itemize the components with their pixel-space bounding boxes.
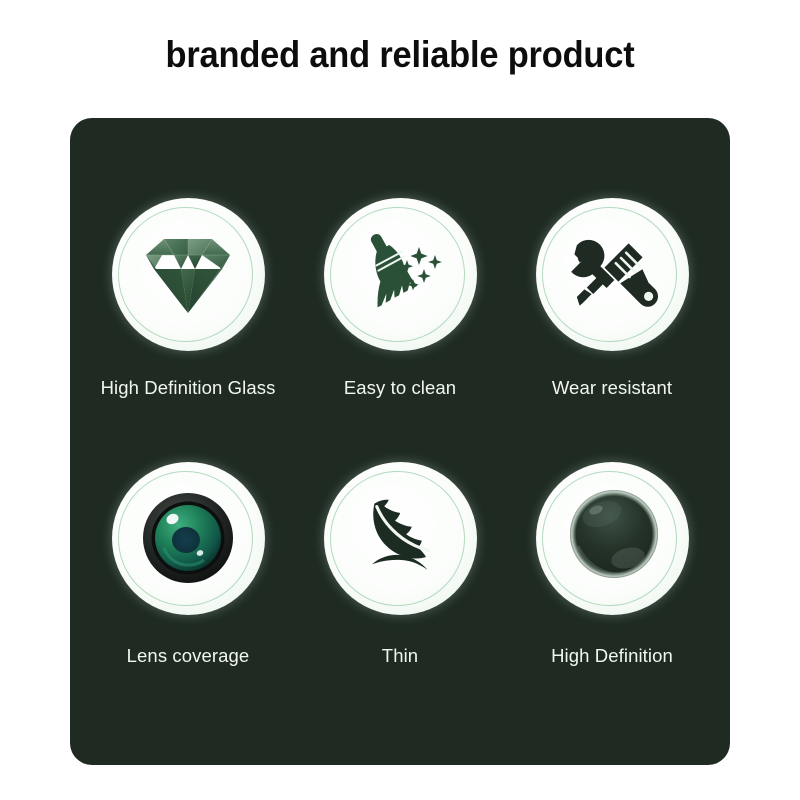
feature-item-thin[interactable]: Thin: [294, 432, 506, 732]
feature-badge: [536, 198, 689, 351]
product-feature-infographic: branded and reliable product: [0, 0, 800, 800]
broom-sparkle-icon: [350, 225, 450, 325]
feature-item-lens-coverage[interactable]: Lens coverage: [82, 432, 294, 732]
feature-badge: [324, 198, 477, 351]
feature-label: Wear resistant: [552, 377, 672, 399]
page-title: branded and reliable product: [28, 34, 772, 76]
camera-lens-icon: [138, 488, 238, 588]
feature-panel: High Definition Glass: [70, 118, 730, 765]
wrench-screwdriver-icon: [562, 225, 662, 325]
feature-item-wear-resistant[interactable]: Wear resistant: [506, 132, 718, 432]
feature-grid: High Definition Glass: [70, 118, 730, 765]
feature-item-high-definition-glass[interactable]: High Definition Glass: [82, 132, 294, 432]
feature-badge: [112, 462, 265, 615]
feature-badge: [324, 462, 477, 615]
feature-badge: [536, 462, 689, 615]
glossy-sphere-icon: [562, 488, 662, 588]
feature-label: Lens coverage: [127, 645, 250, 667]
feather-icon: [350, 488, 450, 588]
feature-item-high-definition[interactable]: High Definition: [506, 432, 718, 732]
feature-label: Easy to clean: [344, 377, 456, 399]
feature-badge: [112, 198, 265, 351]
diamond-icon: [138, 225, 238, 325]
feature-label: High Definition: [551, 645, 673, 667]
feature-item-easy-to-clean[interactable]: Easy to clean: [294, 132, 506, 432]
feature-label: Thin: [382, 645, 418, 667]
feature-label: High Definition Glass: [101, 377, 276, 399]
